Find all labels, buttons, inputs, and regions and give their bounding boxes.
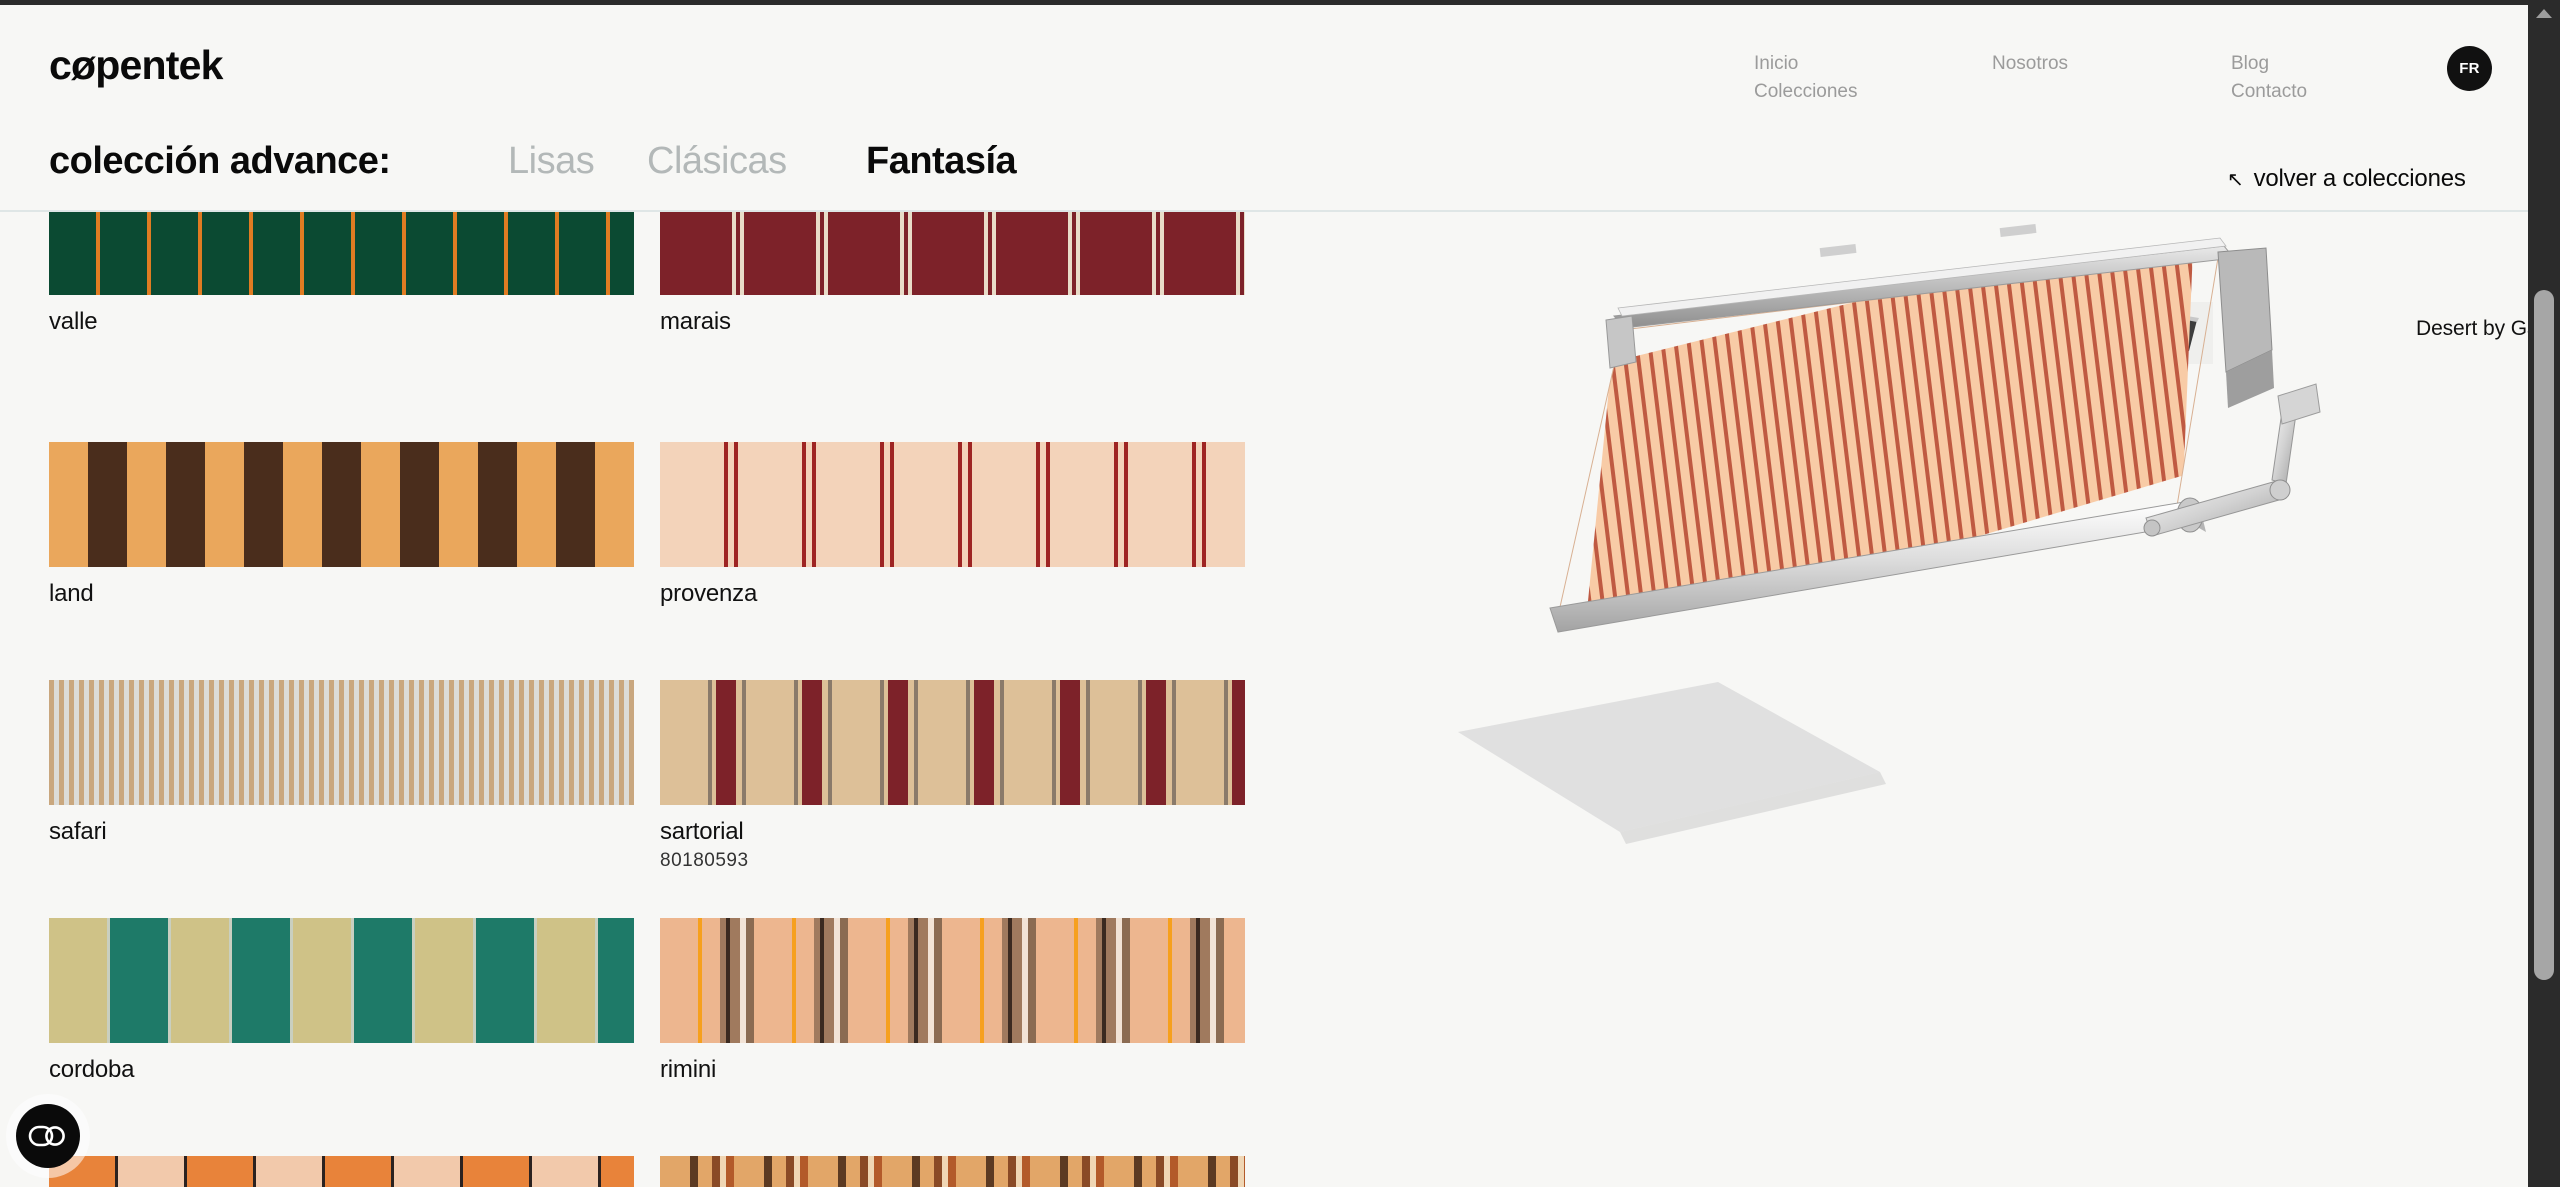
back-link-label: volver a colecciones [2254,165,2466,193]
swatch-name: sartorial [660,818,1245,846]
swatch-row [49,1156,1299,1187]
swatch-name: rimini [660,1056,1245,1084]
nav-link-contacto[interactable]: Contacto [2231,78,2307,106]
language-switcher-badge[interactable]: FR [2447,46,2492,91]
nav-link-blog[interactable]: Blog [2231,50,2307,78]
swatch-card-sartorial[interactable]: sartorial 80180593 [660,680,1245,872]
swatch-pattern-land [49,442,634,567]
swatch-row: land provenza [49,442,1299,680]
swatch-card-rimini[interactable]: rimini [660,918,1245,1084]
swatch-card-land[interactable]: land [49,442,634,608]
nav-link-nosotros[interactable]: Nosotros [1992,50,2068,78]
tab-clasicas[interactable]: Clásicas [647,140,787,183]
swatch-pattern-next-a [49,1156,634,1187]
brand-logo[interactable]: cøpentek [49,42,223,89]
swatch-row: cordoba rimini [49,918,1299,1156]
tab-lisas[interactable]: Lisas [508,140,594,183]
swatch-pattern-rimini [660,918,1245,1043]
swatch-name: provenza [660,580,1245,608]
swatch-row: safari sartorial 80180593 [49,680,1299,918]
swatch-card-cordoba[interactable]: cordoba [49,918,634,1084]
nav-link-colecciones[interactable]: Colecciones [1754,78,1858,106]
swatch-name: land [49,580,634,608]
site-header: cøpentek Inicio Colecciones Nosotros Blo… [0,0,2528,132]
swatch-pattern-provenza [660,442,1245,567]
swatch-name: safari [49,818,634,846]
page-title: colección advance: [49,140,391,183]
cookie-toggle-icon [28,1123,68,1149]
product-preview-panel: Desert by Gaviota ↗ [1400,212,2528,1187]
nav-group-primary: Inicio Colecciones [1754,50,1858,106]
fabric-swatch-grid: valle marais land provenza safari [49,212,1299,1187]
nav-group-about: Nosotros [1992,50,2068,78]
swatch-row: valle marais [49,212,1299,442]
swatch-card-marais[interactable]: marais [660,212,1245,336]
arrow-up-left-icon: ↖ [2227,167,2244,192]
window-top-edge [0,0,2560,5]
collection-titlebar: colección advance: Lisas Clásicas Fantas… [0,132,2528,210]
swatch-pattern-safari [49,680,634,805]
swatch-card-safari[interactable]: safari [49,680,634,846]
page-scrollbar[interactable] [2528,0,2560,1187]
swatch-pattern-cordoba [49,918,634,1043]
awning-3d-svg [1400,212,2528,912]
cookie-consent-toggle[interactable] [16,1104,80,1168]
swatch-card-next-b[interactable] [660,1156,1245,1187]
swatch-card-valle[interactable]: valle [49,212,634,336]
nav-link-inicio[interactable]: Inicio [1754,50,1858,78]
awning-3d-render[interactable] [1400,212,2528,912]
swatch-pattern-next-b [660,1156,1245,1187]
back-to-collections-link[interactable]: ↖ volver a colecciones [2227,165,2466,193]
swatch-pattern-sartorial [660,680,1245,805]
swatch-pattern-valle [49,212,634,295]
swatch-name: valle [49,308,634,336]
nav-group-contact: Blog Contacto [2231,50,2307,106]
swatch-name: marais [660,308,1245,336]
swatch-card-next-a[interactable] [49,1156,634,1187]
swatch-code: 80180593 [660,850,1245,872]
page-viewport: cøpentek Inicio Colecciones Nosotros Blo… [0,0,2528,1187]
scrollbar-thumb[interactable] [2534,290,2554,980]
swatch-name: cordoba [49,1056,634,1084]
tab-fantasia[interactable]: Fantasía [866,140,1016,183]
swatch-pattern-marais [660,212,1245,295]
swatch-card-provenza[interactable]: provenza [660,442,1245,608]
